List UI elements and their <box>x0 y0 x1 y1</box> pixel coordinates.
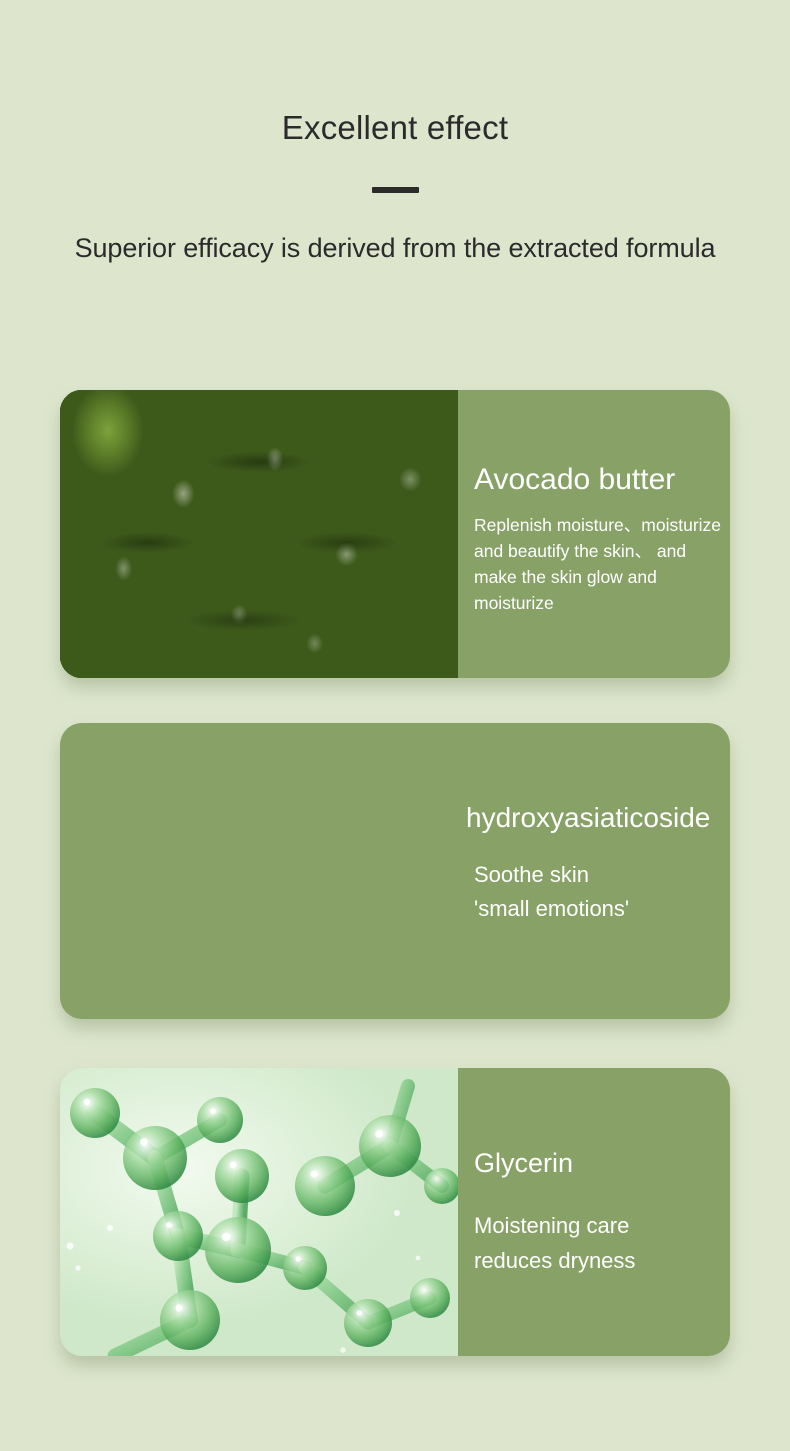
card-text-panel: Glycerin Moistening care reduces dryness <box>458 1068 730 1356</box>
molecule-model-photo <box>60 1068 458 1356</box>
page-subtitle: Superior efficacy is derived from the ex… <box>0 231 790 265</box>
card-text-panel: Avocado butter Replenish moisture、moistu… <box>458 390 730 678</box>
title-divider-rule <box>372 187 419 193</box>
card-image-pennywort <box>60 723 458 1019</box>
card-description: Moistening care reduces dryness <box>474 1208 722 1278</box>
card-image-molecule <box>60 1068 458 1356</box>
card-description: Replenish moisture、moisturize and beauti… <box>474 512 722 616</box>
page-header: Excellent effect Superior efficacy is de… <box>0 0 790 265</box>
page-title: Excellent effect <box>0 108 790 148</box>
avocado-pile-photo <box>60 390 458 678</box>
card-title: hydroxyasiaticoside <box>466 801 726 835</box>
ingredient-card[interactable]: Glycerin Moistening care reduces dryness <box>60 1068 730 1356</box>
card-title: Avocado butter <box>474 462 726 498</box>
ingredient-card[interactable]: Avocado butter Replenish moisture、moistu… <box>60 390 730 678</box>
ingredient-card[interactable]: hydroxyasiaticoside Soothe skin 'small e… <box>60 723 730 1019</box>
molecule-illustration <box>60 1068 458 1356</box>
card-text-panel: hydroxyasiaticoside Soothe skin 'small e… <box>458 723 730 1019</box>
card-image-avocado <box>60 390 458 678</box>
card-title: Glycerin <box>474 1146 726 1180</box>
pennywort-leaves-photo <box>60 723 458 1019</box>
card-description: Soothe skin 'small emotions' <box>474 858 722 926</box>
